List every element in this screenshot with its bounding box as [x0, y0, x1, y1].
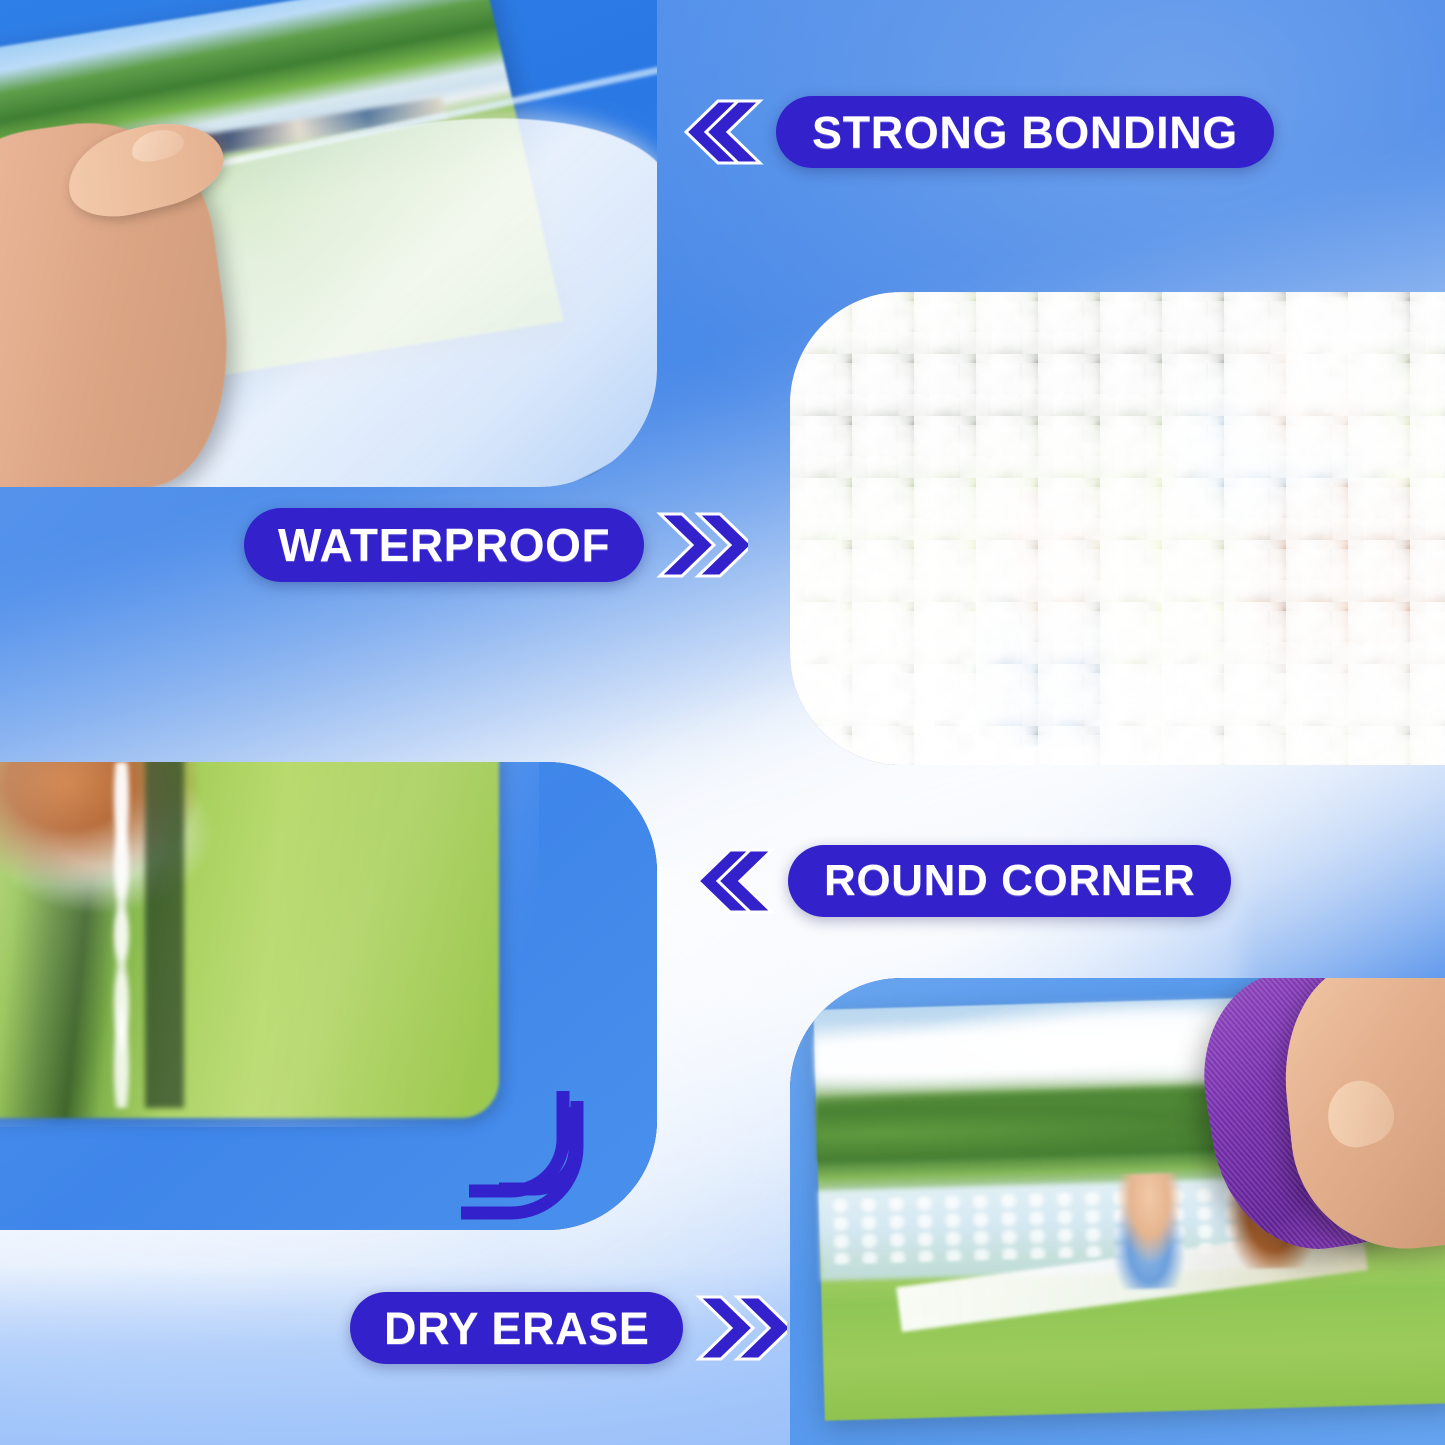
feature-label-strong-bonding: STRONG BONDING	[672, 96, 1274, 168]
photo-panel-round-corner	[0, 762, 657, 1230]
feature-label-waterproof: WATERPROOF	[244, 508, 748, 582]
round-corner-arc-icon	[451, 1045, 641, 1220]
feature-label-text: ROUND CORNER	[824, 859, 1195, 903]
feature-pill-strong-bonding: STRONG BONDING	[776, 96, 1274, 168]
double-chevron-left-icon	[672, 99, 776, 165]
water-droplets-overlay	[790, 292, 1445, 765]
feature-label-text: DRY ERASE	[384, 1306, 649, 1351]
photo-panel-dry-erase	[790, 978, 1445, 1445]
feature-label-dry-erase: DRY ERASE	[350, 1292, 787, 1364]
feature-pill-dry-erase: DRY ERASE	[350, 1292, 683, 1364]
double-chevron-right-icon	[644, 512, 748, 578]
infographic-canvas: STRONG BONDING WATERPROOF ROUND CORNER	[0, 0, 1445, 1445]
photo-panel-strong-bonding	[0, 0, 657, 487]
feature-label-round-corner: ROUND CORNER	[684, 845, 1231, 917]
baby-figure-image	[1104, 1172, 1196, 1290]
feature-pill-waterproof: WATERPROOF	[244, 508, 644, 582]
photo-panel-waterproof	[790, 292, 1445, 765]
double-chevron-right-icon	[683, 1295, 787, 1361]
feature-label-text: WATERPROOF	[278, 522, 610, 568]
double-chevron-left-icon	[684, 848, 788, 914]
feature-pill-round-corner: ROUND CORNER	[788, 845, 1231, 917]
feature-label-text: STRONG BONDING	[812, 110, 1238, 155]
